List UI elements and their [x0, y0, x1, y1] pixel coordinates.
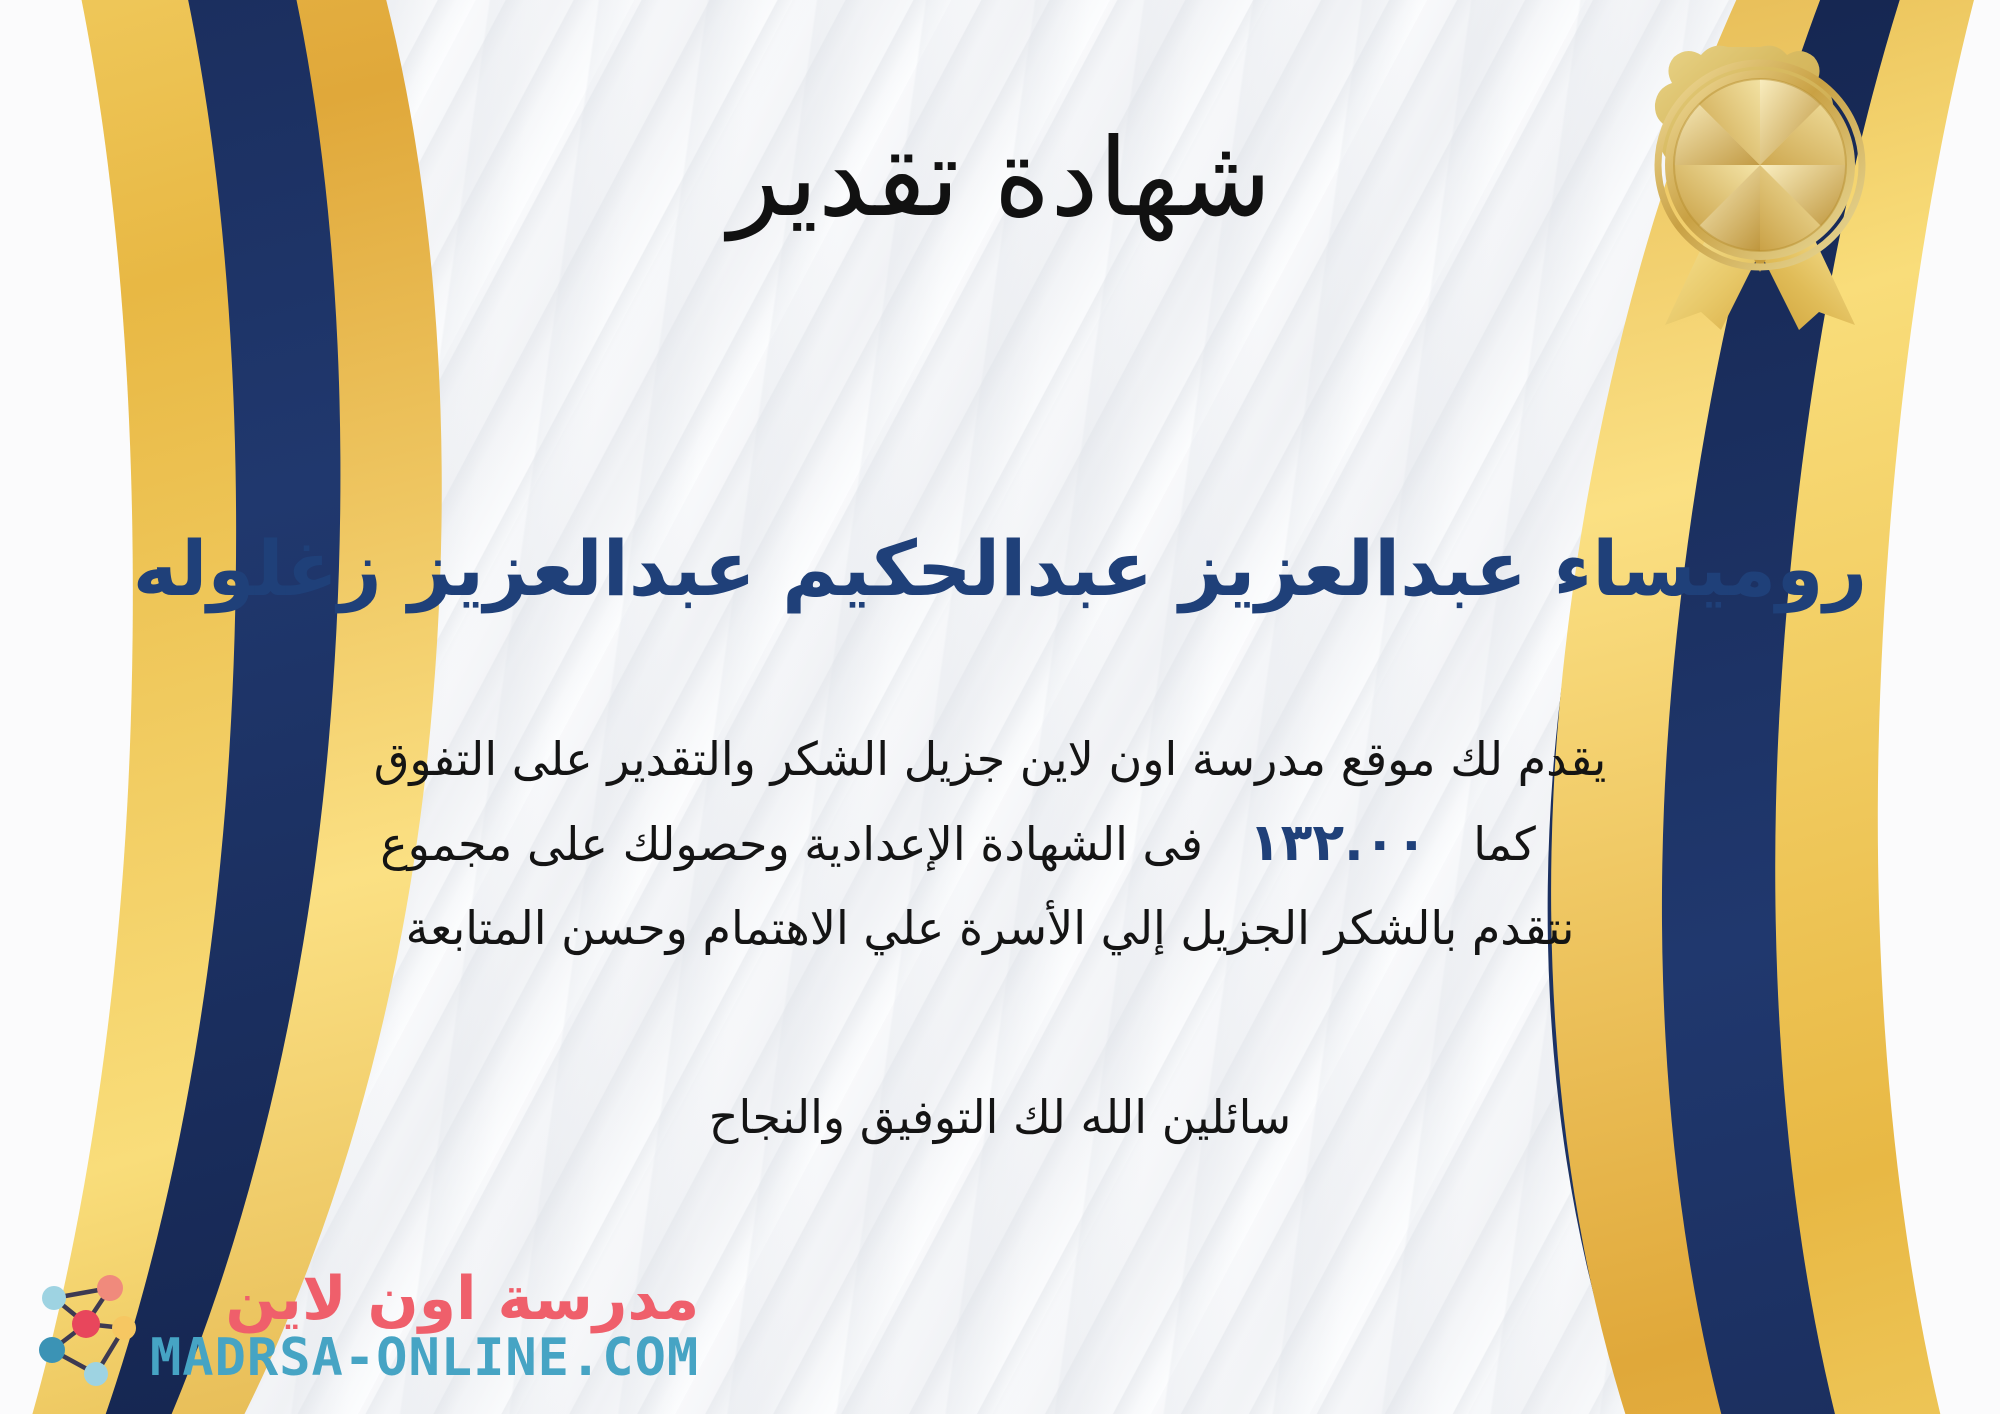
brand-text-block: مدرسة اون لاين MADRSA-ONLINE.COM — [150, 1268, 699, 1386]
closing-wish: سائلين الله لك التوفيق والنجاح — [0, 1090, 2000, 1144]
brand-logo[interactable]: مدرسة اون لاين MADRSA-ONLINE.COM — [24, 1262, 699, 1392]
certificate-body: يقدم لك موقع مدرسة اون لاين جزيل الشكر و… — [90, 720, 1890, 968]
body-line-2-leading-text: فى الشهادة الإعدادية وحصولك على مجموع — [380, 805, 1203, 884]
body-line-1: يقدم لك موقع مدرسة اون لاين جزيل الشكر و… — [90, 720, 1890, 799]
certificate-content: شهادة تقدير روميساء عبدالعزيز عبدالحكيم … — [0, 0, 2000, 1414]
page-title: شهادة تقدير — [0, 120, 2000, 239]
network-nodes-icon — [24, 1262, 144, 1392]
total-score-value: ١٣٢.٠٠ — [1203, 799, 1473, 888]
body-line-2-trailing-word: كما — [1473, 805, 1600, 884]
certificate-canvas: شهادة تقدير روميساء عبدالعزيز عبدالحكيم … — [0, 0, 2000, 1414]
body-line-3: نتقدم بالشكر الجزيل إلي الأسرة علي الاهت… — [90, 889, 1890, 968]
brand-name-arabic: مدرسة اون لاين — [225, 1268, 699, 1331]
recipient-name: روميساء عبدالعزيز عبدالحكيم عبدالعزيز زغ… — [0, 525, 2000, 612]
body-line-2: كما ١٣٢.٠٠ فى الشهادة الإعدادية وحصولك ع… — [90, 799, 1890, 888]
brand-name-latin: MADRSA-ONLINE.COM — [150, 1331, 699, 1386]
